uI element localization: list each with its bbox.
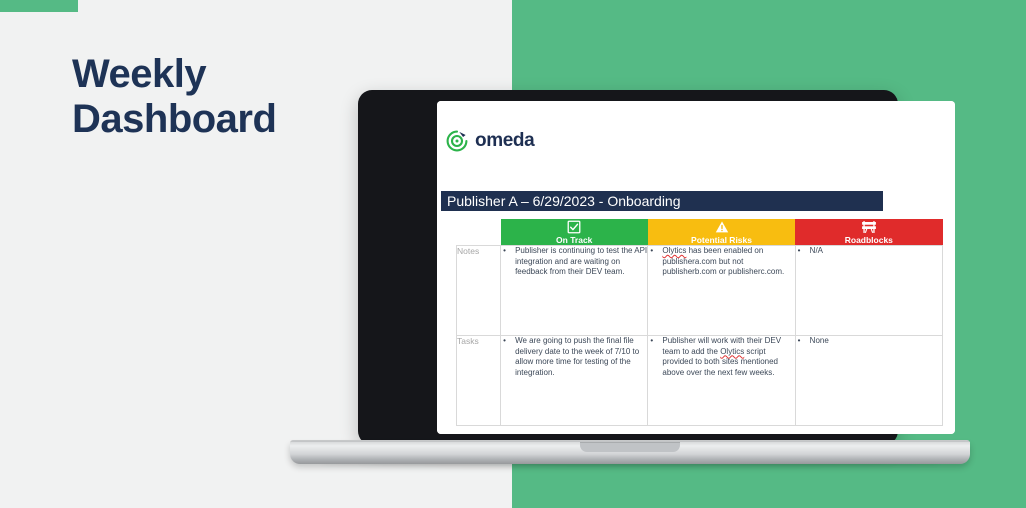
status-table: On Track xyxy=(456,219,943,426)
cell-tasks-roadblocks: None xyxy=(795,336,942,426)
list-item: N/A xyxy=(808,246,942,257)
list-item: We are going to push the final file deli… xyxy=(513,336,647,378)
omeda-logo: omeda xyxy=(445,129,534,153)
laptop-base-notch xyxy=(580,442,680,452)
column-header-roadblocks-label: Roadblocks xyxy=(795,235,942,245)
list-item: Publisher will work with their DEV team … xyxy=(660,336,794,378)
column-header-on-track-label: On Track xyxy=(501,235,648,245)
dashboard-slide: omeda Publisher A – 6/29/2023 - Onboardi… xyxy=(437,101,955,434)
column-header-potential-risks: Potential Risks xyxy=(648,219,795,246)
table-row: Notes Publisher is continuing to test th… xyxy=(457,246,943,336)
laptop-screen: omeda Publisher A – 6/29/2023 - Onboardi… xyxy=(437,101,955,434)
checkbox-checked-icon xyxy=(501,220,648,234)
list-item: Olytics has been enabled on publishera.c… xyxy=(660,246,794,278)
slide-title-bar: Publisher A – 6/29/2023 - Onboarding xyxy=(441,191,883,211)
omeda-wordmark: omeda xyxy=(475,130,534,152)
cell-tasks-on-track: We are going to push the final file deli… xyxy=(501,336,648,426)
cell-tasks-potential-risks: Publisher will work with their DEV team … xyxy=(648,336,795,426)
row-label-notes: Notes xyxy=(457,246,501,336)
cell-notes-potential-risks: Olytics has been enabled on publishera.c… xyxy=(648,246,795,336)
row-label-tasks: Tasks xyxy=(457,336,501,426)
warning-triangle-icon xyxy=(648,220,795,234)
background-green-accent-bar xyxy=(0,0,78,12)
table-header-row: On Track xyxy=(457,219,943,246)
omeda-circle-logo-icon xyxy=(445,129,469,153)
cell-notes-on-track: Publisher is continuing to test the API … xyxy=(501,246,648,336)
column-header-roadblocks: Roadblocks xyxy=(795,219,942,246)
slide-graphic: Weekly Dashboard xyxy=(0,0,1026,508)
road-barricade-icon xyxy=(795,220,942,234)
table-corner-cell xyxy=(457,219,501,246)
column-header-potential-risks-label: Potential Risks xyxy=(648,235,795,245)
list-item: None xyxy=(808,336,942,347)
misspelled-word-olytics: Olytics xyxy=(662,246,686,255)
laptop-lid-bezel: omeda Publisher A – 6/29/2023 - Onboardi… xyxy=(358,90,898,445)
laptop-mockup: omeda Publisher A – 6/29/2023 - Onboardi… xyxy=(290,90,970,480)
cell-notes-roadblocks: N/A xyxy=(795,246,942,336)
table-row: Tasks We are going to push the final fil… xyxy=(457,336,943,426)
list-item: Publisher is continuing to test the API … xyxy=(513,246,647,278)
misspelled-word-olytics: Olytics xyxy=(720,347,744,356)
column-header-on-track: On Track xyxy=(501,219,648,246)
